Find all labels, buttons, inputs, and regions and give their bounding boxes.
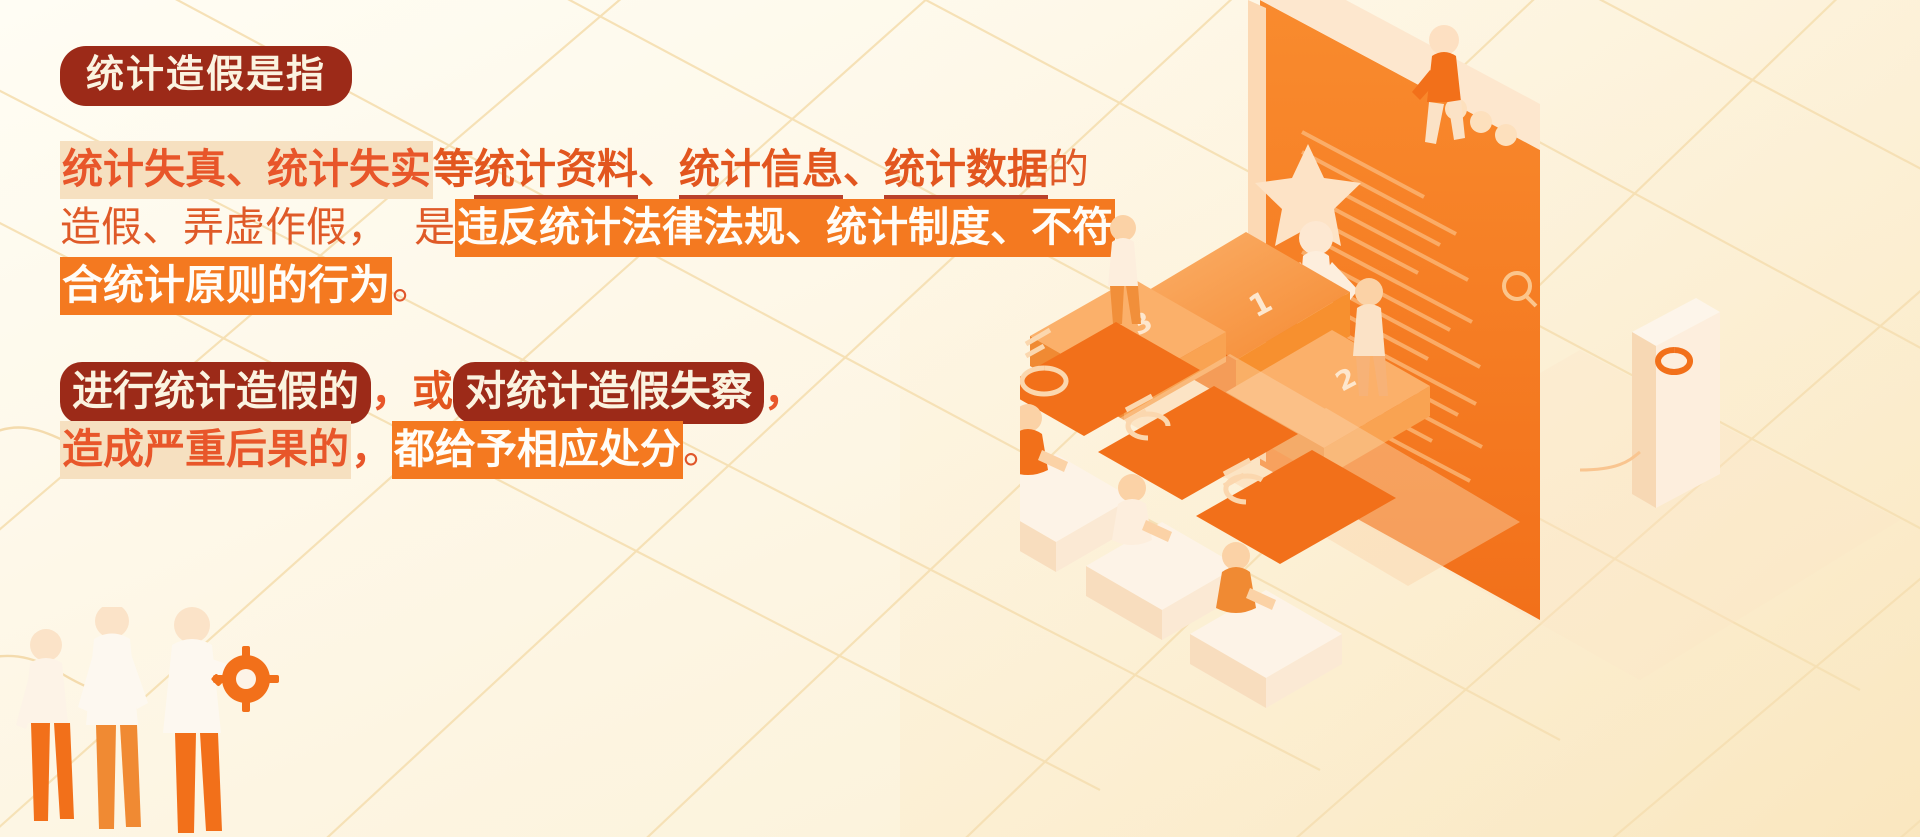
text-comma-2: ， [764,367,805,415]
text-sep-2: 、 [843,145,884,193]
text-plain-4: 或 [412,367,453,415]
badge-red-2: 对统计造假失察 [453,362,764,424]
highlight-tan-1: 统计失真、统计失实 [60,141,433,199]
paragraph-1: 统计失真、统计失实等统计资料、统计信息、统计数据的 造假、弄虚作假， 是违反统计… [60,140,1070,314]
highlight-orange-1: 违反统计法律法规、统计制度、不符 [455,199,1115,257]
highlight-orange-2: 合统计原则的行为 [60,257,392,315]
banner-root: 统计造假是指 统计失真、统计失实等统计资料、统计信息、统计数据的 造假、弄虚作假… [0,0,1920,837]
person-lab-coat [78,607,148,829]
text-plain-1: 等 [433,145,474,193]
text-comma-3: ， [351,425,392,473]
person-with-gear [163,607,279,833]
highlight-orange-3: 都给予相应处分 [392,421,683,479]
gear-icon [211,646,279,712]
text-plain-3: 造假、弄虚作假， 是 [60,203,455,251]
badge-red-1: 进行统计造假的 [60,362,371,424]
text-period-2: 。 [683,425,724,473]
text-column: 统计造假是指 统计失真、统计失实等统计资料、统计信息、统计数据的 造假、弄虚作假… [60,46,1070,478]
page-title: 统计造假是指 [60,46,352,106]
highlight-tan-2: 造成严重后果的 [60,421,351,479]
paragraph-2: 进行统计造假的，或对统计造假失察， 造成严重后果的，都给予相应处分。 [60,362,1070,478]
text-sep-1: 、 [638,145,679,193]
paragraph-1-line-3: 合统计原则的行为。 [60,256,1070,314]
isometric-illustration: 1 3 2 [1020,0,1920,837]
paragraph-2-line-2: 造成严重后果的，都给予相应处分。 [60,420,1070,478]
server-cylinder [1632,298,1720,508]
text-period-1: 。 [392,261,433,309]
paragraph-1-line-1: 统计失真、统计失实等统计资料、统计信息、统计数据的 [60,140,1070,198]
underlined-term-2: 统计信息 [679,145,843,199]
underlined-term-1: 统计资料 [474,145,638,199]
foreground-people-group [0,607,300,837]
paragraph-2-line-1: 进行统计造假的，或对统计造假失察， [60,362,1070,420]
paragraph-1-line-2: 造假、弄虚作假， 是违反统计法律法规、统计制度、不符 [60,198,1070,256]
person-small-left [16,629,74,821]
text-comma-1: ， [371,367,412,415]
